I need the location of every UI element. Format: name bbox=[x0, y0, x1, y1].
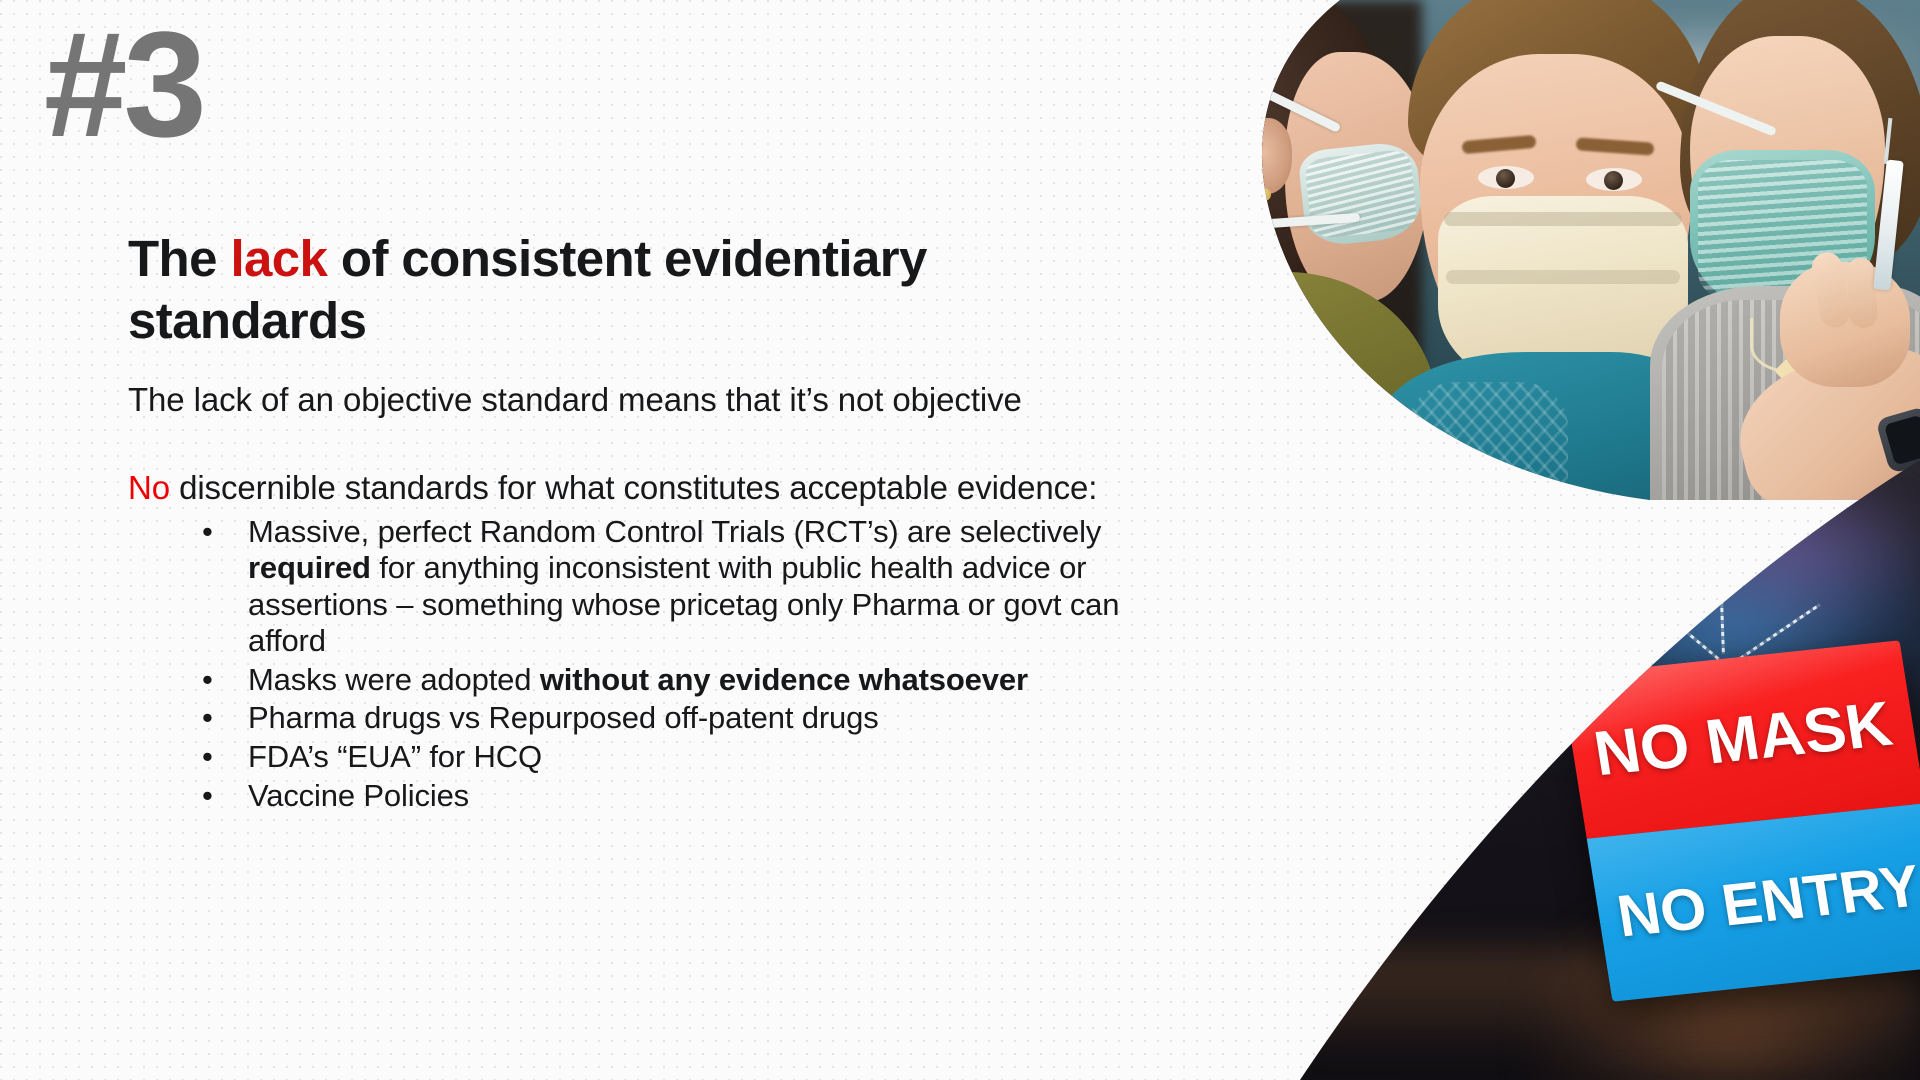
lead-paragraph: The lack of an objective standard means … bbox=[128, 378, 1138, 422]
evidence-bullet-list: •Massive, perfect Random Control Trials … bbox=[128, 514, 1138, 815]
headline-highlight: lack bbox=[230, 230, 327, 287]
bullet-text-1: Masks were adopted bbox=[248, 662, 540, 697]
standards-intro: No discernible standards for what consti… bbox=[128, 466, 1138, 510]
bullet-text-1: Vaccine Policies bbox=[248, 778, 469, 813]
bullet-marker-icon: • bbox=[202, 700, 213, 737]
bullet-text-1: Pharma drugs vs Repurposed off-patent dr… bbox=[248, 700, 879, 735]
slide-number-badge: #3 bbox=[44, 6, 203, 164]
left-person-ear bbox=[1240, 118, 1292, 194]
shop-sign: NO MASK NO ENTRY bbox=[1561, 640, 1920, 1002]
right-person-finger-b bbox=[1846, 257, 1879, 329]
page-title: The lack of consistent evidentiary stand… bbox=[128, 228, 1138, 352]
photo-scene bbox=[1090, 0, 1920, 500]
bullet-marker-icon: • bbox=[202, 739, 213, 776]
bullet-bold: required bbox=[248, 550, 371, 585]
bullet-text-2: for anything inconsistent with public he… bbox=[248, 550, 1119, 658]
center-person-eye-right bbox=[1586, 168, 1642, 191]
bullet-text-1: FDA’s “EUA” for HCQ bbox=[248, 739, 542, 774]
bullet-marker-icon: • bbox=[202, 778, 213, 815]
center-person-eye-left bbox=[1478, 166, 1534, 189]
list-item: •Pharma drugs vs Repurposed off-patent d… bbox=[196, 700, 1128, 737]
bullet-marker-icon: • bbox=[202, 662, 213, 699]
left-person-earring bbox=[1258, 188, 1271, 201]
bullet-marker-icon: • bbox=[202, 514, 213, 551]
list-item: •FDA’s “EUA” for HCQ bbox=[196, 739, 1128, 776]
list-item: •Masks were adopted without any evidence… bbox=[196, 662, 1128, 699]
center-person-lace-pattern bbox=[1408, 382, 1568, 500]
bullet-bold: without any evidence whatsoever bbox=[540, 662, 1028, 697]
text-content-column: The lack of consistent evidentiary stand… bbox=[128, 228, 1138, 816]
no-mask-no-entry-photo: NO MASK NO ENTRY bbox=[1300, 460, 1920, 1080]
list-item: •Massive, perfect Random Control Trials … bbox=[196, 514, 1128, 660]
masked-people-photo bbox=[1090, 0, 1920, 500]
headline-part-1: The bbox=[128, 230, 230, 287]
standards-intro-rest: discernible standards for what constitut… bbox=[170, 469, 1097, 506]
suction-cup-icon bbox=[1698, 508, 1752, 550]
list-item: •Vaccine Policies bbox=[196, 778, 1128, 815]
bullet-text-1: Massive, perfect Random Control Trials (… bbox=[248, 514, 1101, 549]
standards-intro-highlight: No bbox=[128, 469, 170, 506]
slide-canvas: #3 The lack of consistent evidentiary st… bbox=[0, 0, 1920, 1080]
